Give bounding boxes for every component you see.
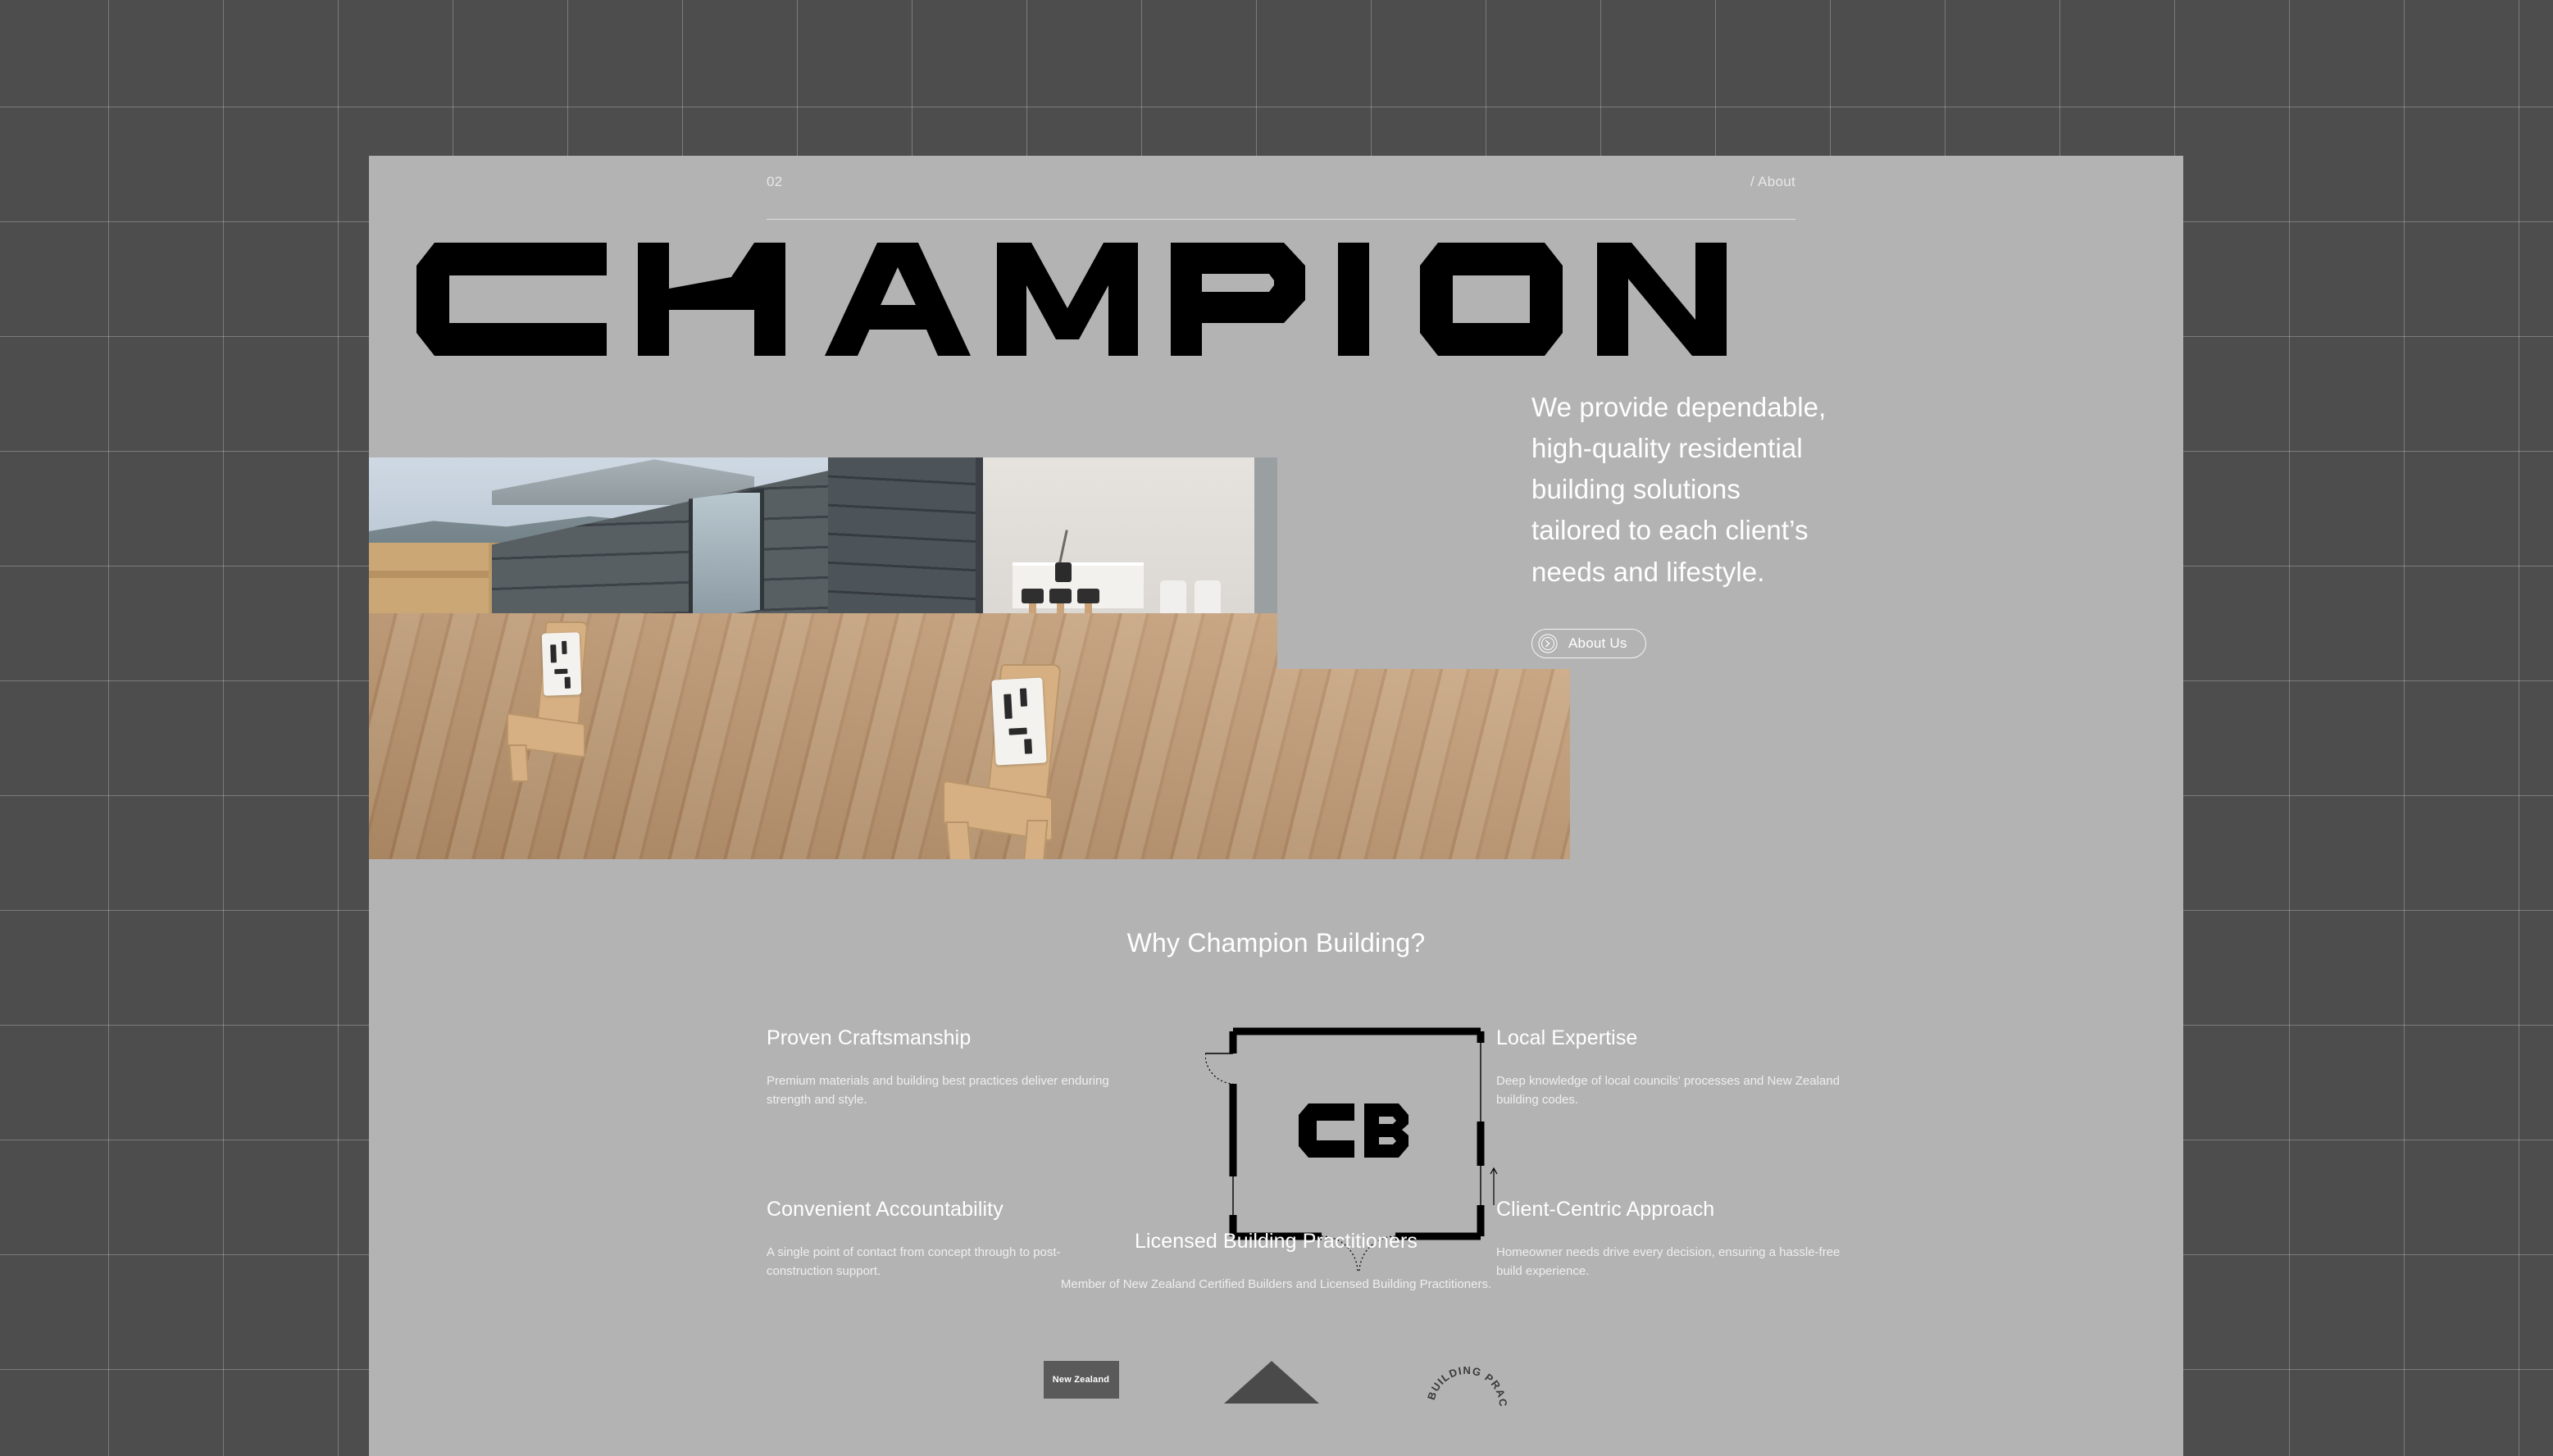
- feature-title: Convenient Accountability: [767, 1198, 1144, 1222]
- certification-logos: New Zealand BUILDING PRACTITIONERS: [369, 1361, 2183, 1456]
- lbp-title: Licensed Building Practitioners: [369, 1230, 2183, 1254]
- feature-title: Client-Centric Approach: [1496, 1198, 1873, 1222]
- page-header: 02 / About: [767, 156, 1795, 220]
- nzcb-label: New Zealand: [1053, 1375, 1109, 1385]
- why-section-title: Why Champion Building?: [369, 928, 2183, 958]
- hero-copy: We provide dependable, high-quality resi…: [1531, 387, 1827, 658]
- section-index: 02: [767, 174, 783, 190]
- section-label: / About: [1750, 174, 1795, 190]
- about-us-button[interactable]: About Us: [1531, 629, 1646, 658]
- building-practitioners-seal-logo: BUILDING PRACTITIONERS: [1424, 1361, 1509, 1446]
- feature-title: Proven Craftsmanship: [767, 1026, 1144, 1050]
- hero-paragraph: We provide dependable, high-quality resi…: [1531, 387, 1827, 593]
- lbp-section: Licensed Building Practitioners Member o…: [369, 1230, 2183, 1294]
- cb-monogram: [1299, 1103, 1408, 1158]
- champion-wordmark: [402, 238, 2148, 361]
- feature-item: Proven Craftsmanship Premium materials a…: [767, 1026, 1144, 1110]
- roof-chevron-logo: [1224, 1361, 1319, 1404]
- new-zealand-certified-builders-logo: New Zealand: [1044, 1361, 1119, 1399]
- feature-item: Local Expertise Deep knowledge of local …: [1496, 1026, 1873, 1110]
- about-us-button-label: About Us: [1568, 635, 1627, 652]
- circle-arrow-right-icon: [1538, 634, 1558, 653]
- hero-image: [369, 457, 1570, 859]
- svg-text:BUILDING PRACTITIONERS: BUILDING PRACTITIONERS: [1424, 1361, 1509, 1408]
- lbp-body: Member of New Zealand Certified Builders…: [369, 1275, 2183, 1294]
- page-card: 02 / About: [369, 156, 2183, 1456]
- feature-title: Local Expertise: [1496, 1026, 1873, 1050]
- feature-body: Deep knowledge of local councils' proces…: [1496, 1072, 1841, 1110]
- feature-body: Premium materials and building best prac…: [767, 1072, 1111, 1110]
